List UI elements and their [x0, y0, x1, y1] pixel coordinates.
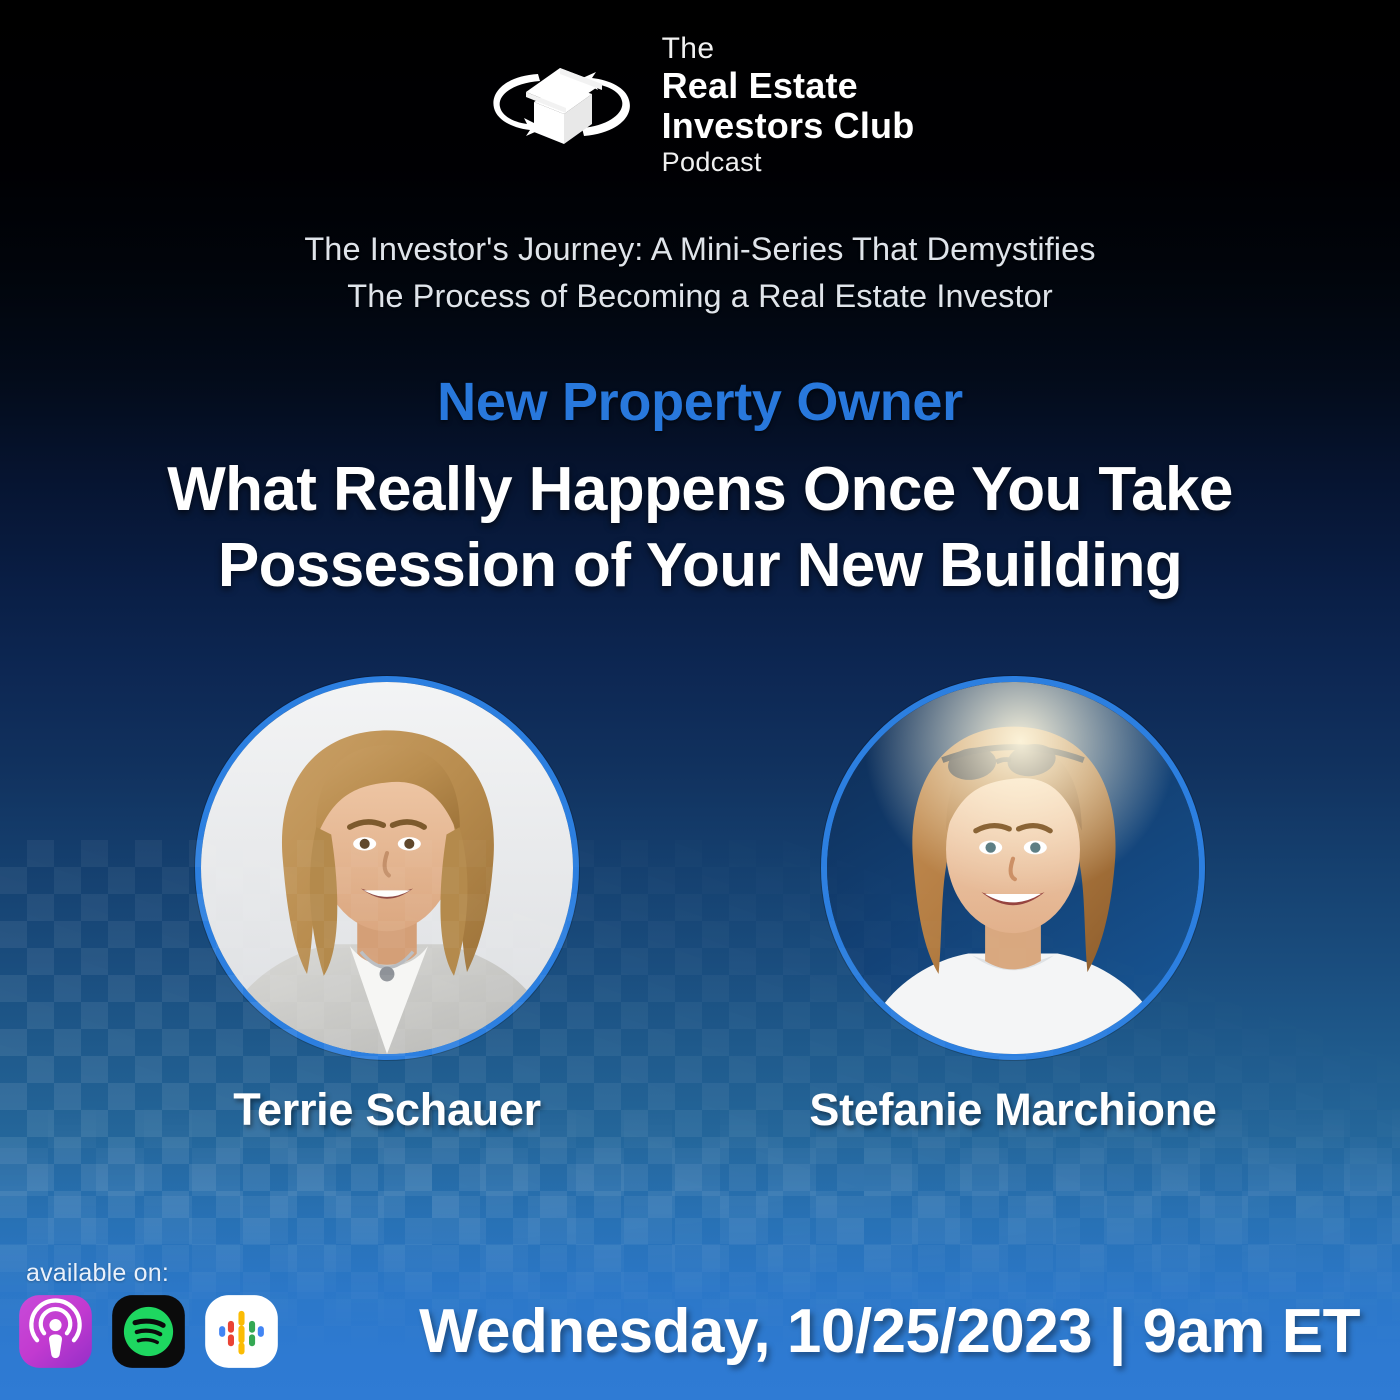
logo-line-investors-club: Investors Club: [662, 108, 915, 144]
brand-logo: The Real Estate Investors Club Podcast: [0, 34, 1400, 176]
episode-kicker: New Property Owner: [0, 371, 1400, 433]
logo-line-real-estate: Real Estate: [662, 68, 915, 104]
episode-title-line-1: What Really Happens Once You Take: [56, 452, 1344, 528]
series-line-1: The Investor's Journey: A Mini-Series Th…: [0, 226, 1400, 273]
platform-badges: [18, 1294, 279, 1369]
podcast-episode-poster: The Real Estate Investors Club Podcast T…: [0, 0, 1400, 1400]
speakers-row: Terrie Schauer: [0, 676, 1400, 1136]
avatar: [195, 676, 579, 1060]
episode-title-line-2: Possession of Your New Building: [56, 528, 1344, 604]
logo-line-the: The: [662, 34, 915, 64]
google-podcasts-icon[interactable]: [204, 1294, 279, 1369]
avatar: [821, 676, 1205, 1060]
series-subtitle: The Investor's Journey: A Mini-Series Th…: [0, 226, 1400, 320]
portrait-terrie-schauer: [201, 682, 573, 1054]
airtime-banner: Wednesday, 10/25/2023 | 9am ET: [419, 1296, 1360, 1367]
episode-title: What Really Happens Once You Take Posses…: [0, 452, 1400, 603]
available-on-label: available on:: [26, 1259, 169, 1288]
apple-podcasts-icon[interactable]: [18, 1294, 93, 1369]
speaker-name: Terrie Schauer: [233, 1084, 541, 1136]
speaker-card: Stefanie Marchione: [821, 676, 1205, 1136]
speaker-name: Stefanie Marchione: [809, 1084, 1216, 1136]
speaker-card: Terrie Schauer: [195, 676, 579, 1136]
house-orbit-icon: [486, 40, 636, 170]
spotify-icon[interactable]: [111, 1294, 186, 1369]
portrait-stefanie-marchione: [827, 682, 1199, 1054]
logo-line-podcast: Podcast: [662, 149, 915, 176]
series-line-2: The Process of Becoming a Real Estate In…: [0, 273, 1400, 320]
